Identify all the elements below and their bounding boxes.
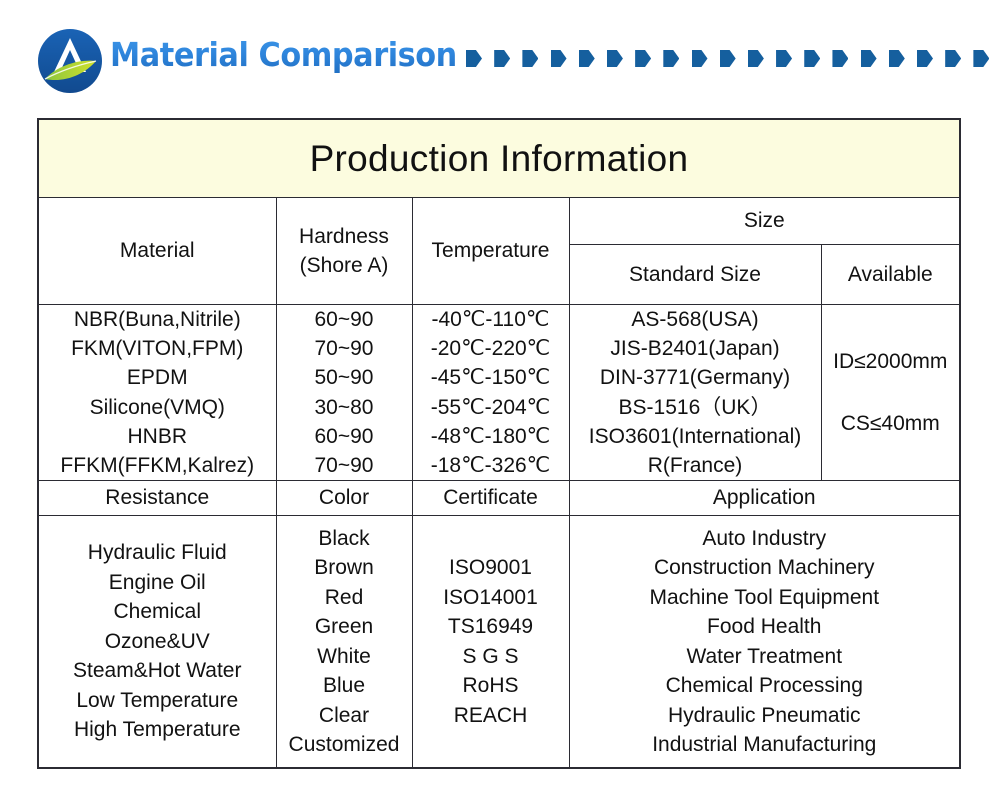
- header-size: Size: [569, 198, 960, 245]
- arrow-icon: [917, 50, 933, 67]
- list-item: Construction Machinery: [570, 553, 960, 583]
- arrow-icon: [804, 50, 820, 67]
- header-temperature: Temperature: [412, 198, 569, 305]
- arrow-icon: [663, 50, 679, 67]
- table-header-row-1: Material Hardness (Shore A) Temperature …: [38, 198, 960, 245]
- header-resistance: Resistance: [38, 481, 276, 516]
- arrow-icon: [494, 50, 510, 67]
- list-item: Engine Oil: [39, 568, 276, 598]
- cell-resistance: Hydraulic Fluid Engine Oil Chemical Ozon…: [38, 516, 276, 769]
- table-subheader-row: Resistance Color Certificate Application: [38, 481, 960, 516]
- list-item: CS≤40mm: [822, 393, 960, 455]
- list-item: NBR(Buna,Nitrile): [39, 305, 276, 334]
- list-item: Green: [277, 612, 412, 642]
- header-available: Available: [821, 245, 960, 305]
- arrow-icon: [607, 50, 623, 67]
- list-item: Black: [277, 524, 412, 554]
- list-item: FKM(VITON,FPM): [39, 334, 276, 363]
- list-item: Brown: [277, 553, 412, 583]
- list-item: ISO3601(International): [570, 422, 821, 451]
- specification-table-wrapper: Production Information Material Hardness…: [37, 118, 959, 769]
- arrow-icon: [748, 50, 764, 67]
- list-item: HNBR: [39, 422, 276, 451]
- arrow-icon: [466, 50, 482, 67]
- list-item: Food Health: [570, 612, 960, 642]
- list-item: White: [277, 642, 412, 672]
- cell-materials: NBR(Buna,Nitrile) FKM(VITON,FPM) EPDM Si…: [38, 305, 276, 481]
- list-item: ISO14001: [413, 583, 569, 613]
- list-item: 30~80: [277, 393, 412, 422]
- list-item: Chemical Processing: [570, 671, 960, 701]
- table-caption: Production Information: [38, 119, 960, 198]
- cell-available: ID≤2000mm CS≤40mm: [821, 305, 960, 481]
- cell-standard-size: AS-568(USA) JIS-B2401(Japan) DIN-3771(Ge…: [569, 305, 821, 481]
- list-item: S G S: [413, 642, 569, 672]
- list-item: Silicone(VMQ): [39, 393, 276, 422]
- list-item: 60~90: [277, 422, 412, 451]
- header-hardness-line2: (Shore A): [277, 251, 412, 280]
- list-item: Hydraulic Fluid: [39, 538, 276, 568]
- page-title: Material Comparison: [110, 34, 457, 76]
- list-item: REACH: [413, 701, 569, 731]
- arrow-icon: [861, 50, 877, 67]
- header-hardness: Hardness (Shore A): [276, 198, 412, 305]
- list-item: ID≤2000mm: [822, 331, 960, 393]
- mountain-leaf-logo-icon: [36, 27, 104, 95]
- list-item: RoHS: [413, 671, 569, 701]
- list-item: 70~90: [277, 451, 412, 480]
- list-item: R(France): [570, 451, 821, 480]
- list-item: TS16949: [413, 612, 569, 642]
- header-hardness-line1: Hardness: [277, 222, 412, 251]
- list-item: Ozone&UV: [39, 627, 276, 657]
- list-item: -55℃-204℃: [413, 393, 569, 422]
- page-header: Material Comparison: [0, 0, 998, 110]
- arrow-icon: [579, 50, 595, 67]
- header-material: Material: [38, 198, 276, 305]
- arrow-icon: [889, 50, 905, 67]
- arrow-decoration-strip: [466, 50, 989, 67]
- list-item: 70~90: [277, 334, 412, 363]
- list-item: Customized: [277, 730, 412, 760]
- list-item: Blue: [277, 671, 412, 701]
- list-item: -48℃-180℃: [413, 422, 569, 451]
- arrow-icon: [720, 50, 736, 67]
- list-item: FFKM(FFKM,Kalrez): [39, 451, 276, 480]
- list-item: BS-1516（UK）: [570, 393, 821, 422]
- list-item: Clear: [277, 701, 412, 731]
- list-item: ISO9001: [413, 553, 569, 583]
- arrow-icon: [973, 50, 989, 67]
- cell-application: Auto Industry Construction Machinery Mac…: [569, 516, 960, 769]
- list-item: Industrial Manufacturing: [570, 730, 960, 760]
- list-item: 50~90: [277, 363, 412, 392]
- table-title-row: Production Information: [38, 119, 960, 198]
- list-item: EPDM: [39, 363, 276, 392]
- cell-temperature: -40℃-110℃ -20℃-220℃ -45℃-150℃ -55℃-204℃ …: [412, 305, 569, 481]
- list-item: Low Temperature: [39, 686, 276, 716]
- list-item: Auto Industry: [570, 524, 960, 554]
- list-item: Water Treatment: [570, 642, 960, 672]
- list-item: Steam&Hot Water: [39, 656, 276, 686]
- list-item: Chemical: [39, 597, 276, 627]
- list-item: -20℃-220℃: [413, 334, 569, 363]
- table-body-row-properties: Hydraulic Fluid Engine Oil Chemical Ozon…: [38, 516, 960, 769]
- list-item: -40℃-110℃: [413, 305, 569, 334]
- list-item: AS-568(USA): [570, 305, 821, 334]
- arrow-icon: [945, 50, 961, 67]
- arrow-icon: [776, 50, 792, 67]
- list-item: -45℃-150℃: [413, 363, 569, 392]
- list-item: Red: [277, 583, 412, 613]
- list-item: DIN-3771(Germany): [570, 363, 821, 392]
- list-item: JIS-B2401(Japan): [570, 334, 821, 363]
- arrow-icon: [522, 50, 538, 67]
- list-item: High Temperature: [39, 715, 276, 745]
- cell-hardness: 60~90 70~90 50~90 30~80 60~90 70~90: [276, 305, 412, 481]
- specification-table: Production Information Material Hardness…: [37, 118, 961, 769]
- header-certificate: Certificate: [412, 481, 569, 516]
- arrow-icon: [832, 50, 848, 67]
- arrow-icon: [692, 50, 708, 67]
- table-body-row-materials: NBR(Buna,Nitrile) FKM(VITON,FPM) EPDM Si…: [38, 305, 960, 481]
- list-item: Hydraulic Pneumatic: [570, 701, 960, 731]
- arrow-icon: [635, 50, 651, 67]
- list-item: Machine Tool Equipment: [570, 583, 960, 613]
- header-color: Color: [276, 481, 412, 516]
- list-item: 60~90: [277, 305, 412, 334]
- header-application: Application: [569, 481, 960, 516]
- list-item: -18℃-326℃: [413, 451, 569, 480]
- arrow-icon: [551, 50, 567, 67]
- header-standard-size: Standard Size: [569, 245, 821, 305]
- cell-color: Black Brown Red Green White Blue Clear C…: [276, 516, 412, 769]
- cell-certificate: ISO9001 ISO14001 TS16949 S G S RoHS REAC…: [412, 516, 569, 769]
